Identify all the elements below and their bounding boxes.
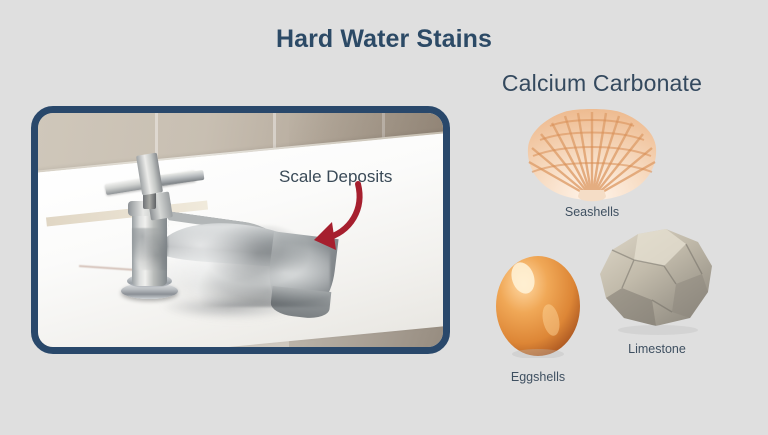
faucet-icon <box>38 113 443 347</box>
scallop-shell-icon <box>520 104 664 204</box>
scale-deposits-arrow-icon <box>286 182 366 258</box>
faucet-photo <box>38 113 443 347</box>
limestone-rock-icon <box>594 226 718 338</box>
calcium-carbonate-heading: Calcium Carbonate <box>452 70 752 97</box>
seashell-caption: Seashells <box>520 205 664 219</box>
brown-egg-icon <box>493 248 583 358</box>
faucet-photo-card <box>31 106 450 354</box>
slide-canvas: Hard Water Stains Calcium Carbonate <box>0 0 768 435</box>
eggshells-caption: Eggshells <box>485 370 591 384</box>
limestone-caption: Limestone <box>598 342 716 356</box>
page-title: Hard Water Stains <box>0 25 768 54</box>
